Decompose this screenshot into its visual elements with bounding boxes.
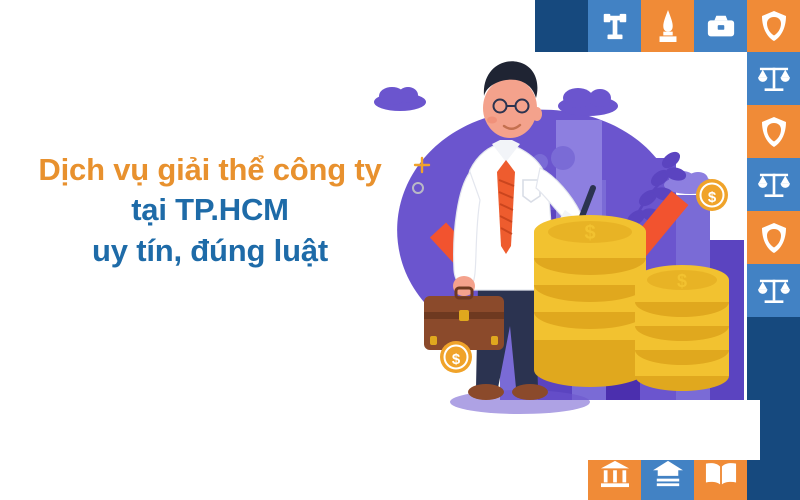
dot-medium — [551, 146, 575, 170]
headline-line-1: Dịch vụ giải thể công ty — [0, 150, 420, 190]
shoe-right — [512, 384, 548, 400]
scales-icon — [757, 64, 791, 94]
headline-block: Dịch vụ giải thể công ty tại TP.HCM uy t… — [0, 150, 420, 271]
svg-text:$: $ — [708, 189, 717, 206]
shoe-left — [468, 384, 504, 400]
dollar-coin-badge-right: $ — [696, 179, 728, 211]
briefcase — [424, 288, 504, 350]
banner-image: Dịch vụ giải thể công ty tại TP.HCM uy t… — [0, 0, 800, 500]
gold-coin-stack-large: $ — [534, 215, 646, 387]
illustration: $ $ $ — [360, 40, 760, 460]
briefcase-icon — [706, 12, 736, 40]
headline-line-3: uy tín, đúng luật — [0, 231, 420, 271]
graduation-cap-icon — [652, 460, 684, 488]
monument-icon — [655, 10, 681, 42]
headline-line-2: tại TP.HCM — [0, 190, 420, 230]
open-book-icon — [705, 461, 737, 487]
dollar-symbol: $ — [677, 271, 687, 291]
cloud-left — [374, 87, 426, 111]
cloud-right — [558, 88, 618, 116]
scales-icon — [757, 170, 791, 200]
shield-icon — [760, 10, 788, 42]
gold-coin-stack-small: $ — [635, 265, 729, 391]
dollar-coin-badge-left: $ — [440, 341, 472, 373]
shield-icon — [760, 222, 788, 254]
svg-text:$: $ — [452, 351, 461, 368]
gavel-icon — [600, 11, 630, 41]
scales-icon — [757, 276, 791, 306]
shield-icon — [760, 116, 788, 148]
courthouse-icon — [600, 460, 630, 488]
dollar-symbol: $ — [584, 222, 595, 244]
ear — [532, 107, 542, 121]
